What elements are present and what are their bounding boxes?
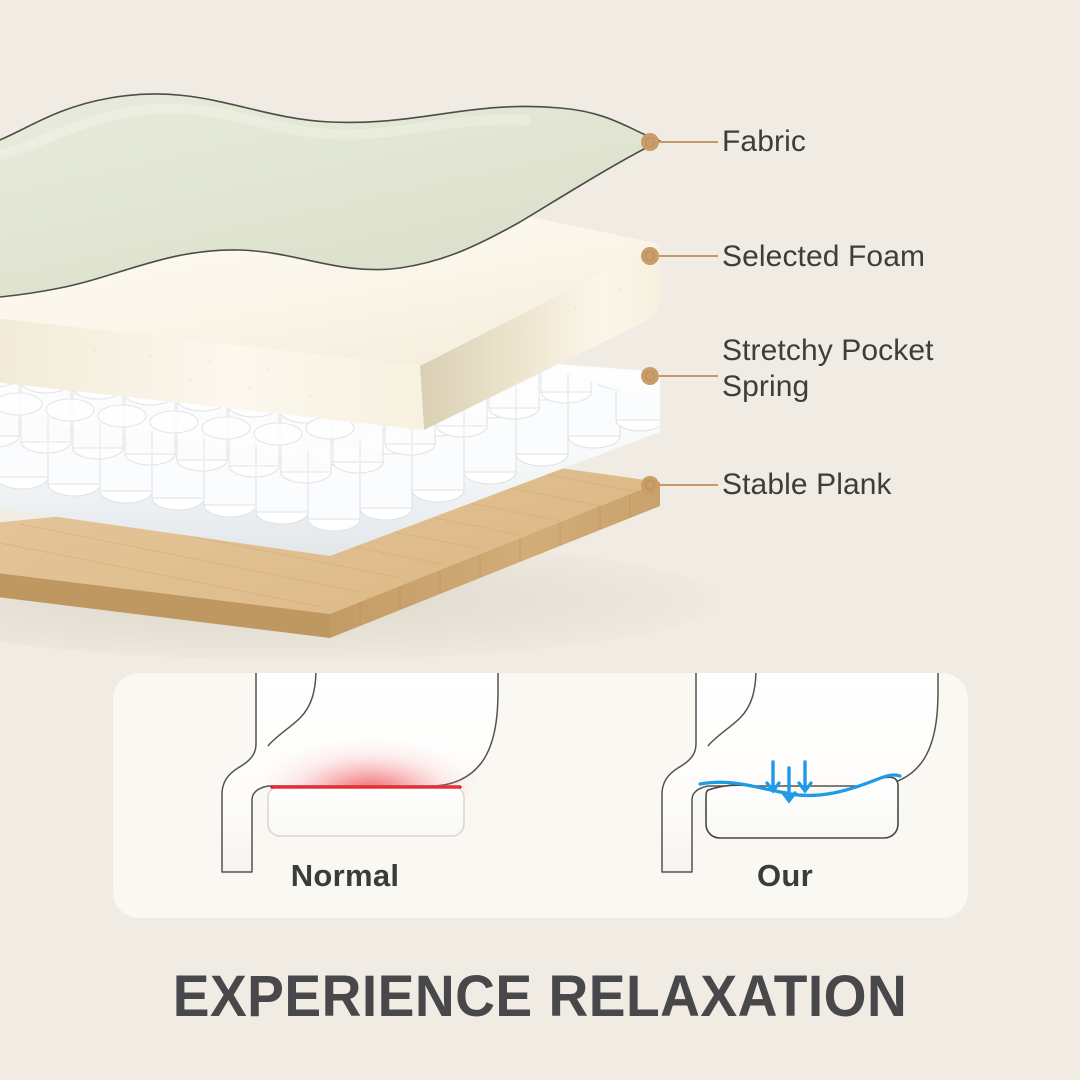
comparison-illustrations [0, 0, 1080, 1080]
panel-normal [222, 668, 498, 872]
infographic-canvas: Fabric Selected Foam Stretchy Pocket Spr… [0, 0, 1080, 1080]
comparison-caption-our: Our [665, 858, 905, 894]
panel-our [662, 668, 938, 872]
headline-text: EXPERIENCE RELAXATION [27, 963, 1053, 1030]
mattress-normal [268, 786, 464, 836]
comparison-caption-normal: Normal [225, 858, 465, 894]
